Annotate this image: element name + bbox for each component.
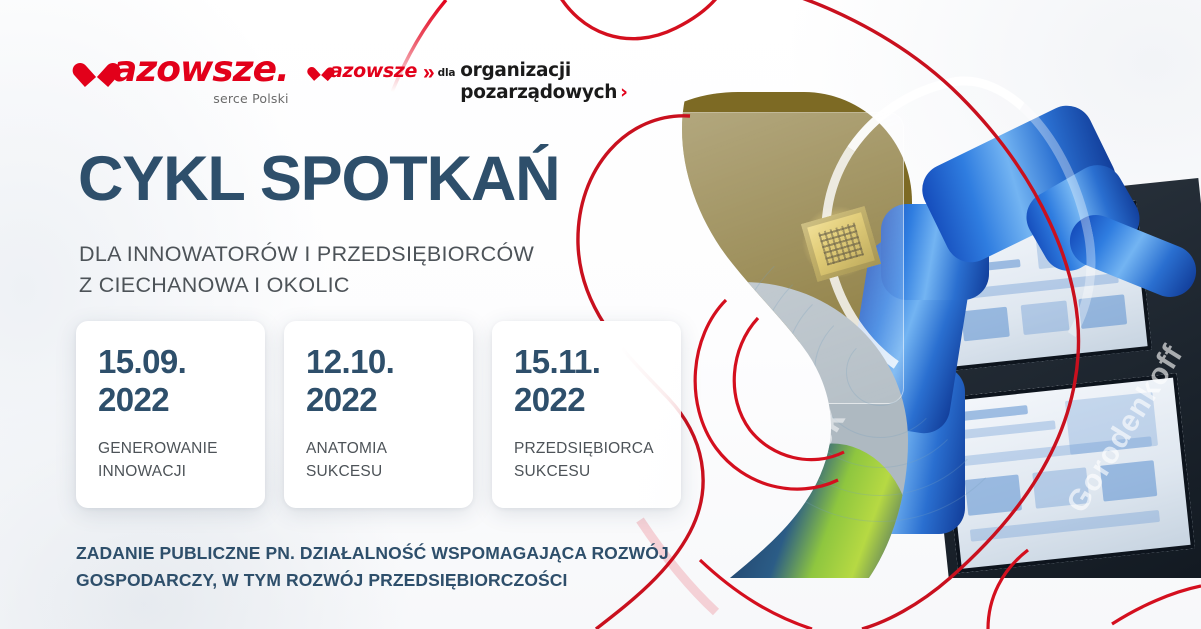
event-date-year: 2022 [98, 381, 265, 419]
event-card[interactable]: 15.09. 2022 GENEROWANIE INNOWACJI [76, 321, 265, 508]
event-card[interactable]: 12.10. 2022 ANATOMIA SUKCESU [284, 321, 473, 508]
ngo-line-1: organizacji [460, 60, 627, 82]
funding-disclaimer-line-2: GOSPODARCZY, W TYM ROZWÓJ PRZEDSIĘBIORCZ… [76, 567, 669, 594]
subtitle-line-2: Z CIECHANOWA I OKOLIC [79, 270, 534, 301]
promotional-banner: terstock Gorodenkoff shutt [0, 0, 1201, 629]
event-topic-line-2: SUKCESU [514, 460, 681, 483]
subtitle-line-1: DLA INNOWATORÓW I PRZEDSIĘBIORCÓW [79, 239, 534, 270]
mazowsze-logo[interactable]: azowsze. serce Polski [82, 52, 289, 106]
event-topic: GENEROWANIE INNOWACJI [98, 437, 265, 484]
ngo-wordmark-text: azowsze [330, 62, 417, 81]
event-date-day-month: 15.09. [98, 343, 265, 381]
heart-photo-collage: terstock Gorodenkoff shutt [560, 0, 1201, 629]
page-subtitle: DLA INNOWATORÓW I PRZEDSIĘBIORCÓW Z CIEC… [79, 239, 534, 300]
chevron-right-icon: › [620, 83, 628, 102]
heart-clip-mask: terstock Gorodenkoff shutt [560, 0, 1201, 629]
event-topic-line-2: INNOWACJI [98, 460, 265, 483]
mazowsze-wordmark: azowsze. [82, 52, 289, 88]
ngo-line-2-row: pozarządowych › [460, 82, 627, 104]
mazowsze-ngo-logo[interactable]: azowsze » dla organizacji pozarządowych … [312, 60, 628, 104]
event-date: 15.09. 2022 [98, 343, 265, 418]
funding-disclaimer: ZADANIE PUBLICZNE PN. DZIAŁALNOŚĆ WSPOMA… [76, 540, 669, 594]
double-chevron-icon: » [423, 62, 432, 83]
event-date: 15.11. 2022 [514, 343, 681, 418]
ngo-subject-lines: organizacji pozarządowych › [460, 60, 627, 104]
ngo-dla-label: dla [438, 67, 456, 79]
event-topic-line-2: SUKCESU [306, 460, 473, 483]
ngo-wordmark: azowsze [312, 62, 417, 81]
funding-disclaimer-line-1: ZADANIE PUBLICZNE PN. DZIAŁALNOŚĆ WSPOMA… [76, 540, 669, 567]
event-date: 12.10. 2022 [306, 343, 473, 418]
page-title: CYKL SPOTKAŃ [78, 148, 559, 211]
event-topic-line-1: ANATOMIA [306, 437, 473, 460]
event-date-cards: 15.09. 2022 GENEROWANIE INNOWACJI 12.10.… [76, 321, 681, 508]
hud-rings-icon [730, 222, 1030, 522]
photo-watermark: shutt [621, 161, 669, 219]
ngo-line-2: pozarządowych [460, 82, 617, 104]
mazowsze-tagline: serce Polski [82, 91, 289, 106]
event-topic-line-1: GENEROWANIE [98, 437, 265, 460]
heart-icon [82, 57, 112, 84]
event-date-day-month: 15.11. [514, 343, 681, 381]
event-date-year: 2022 [514, 381, 681, 419]
mazowsze-wordmark-text: azowsze. [113, 52, 289, 88]
event-date-day-month: 12.10. [306, 343, 473, 381]
event-date-year: 2022 [306, 381, 473, 419]
event-topic: PRZEDSIĘBIORCA SUKCESU [514, 437, 681, 484]
event-topic: ANATOMIA SUKCESU [306, 437, 473, 484]
event-topic-line-1: PRZEDSIĘBIORCA [514, 437, 681, 460]
heart-icon [312, 64, 329, 79]
event-card[interactable]: 15.11. 2022 PRZEDSIĘBIORCA SUKCESU [492, 321, 681, 508]
